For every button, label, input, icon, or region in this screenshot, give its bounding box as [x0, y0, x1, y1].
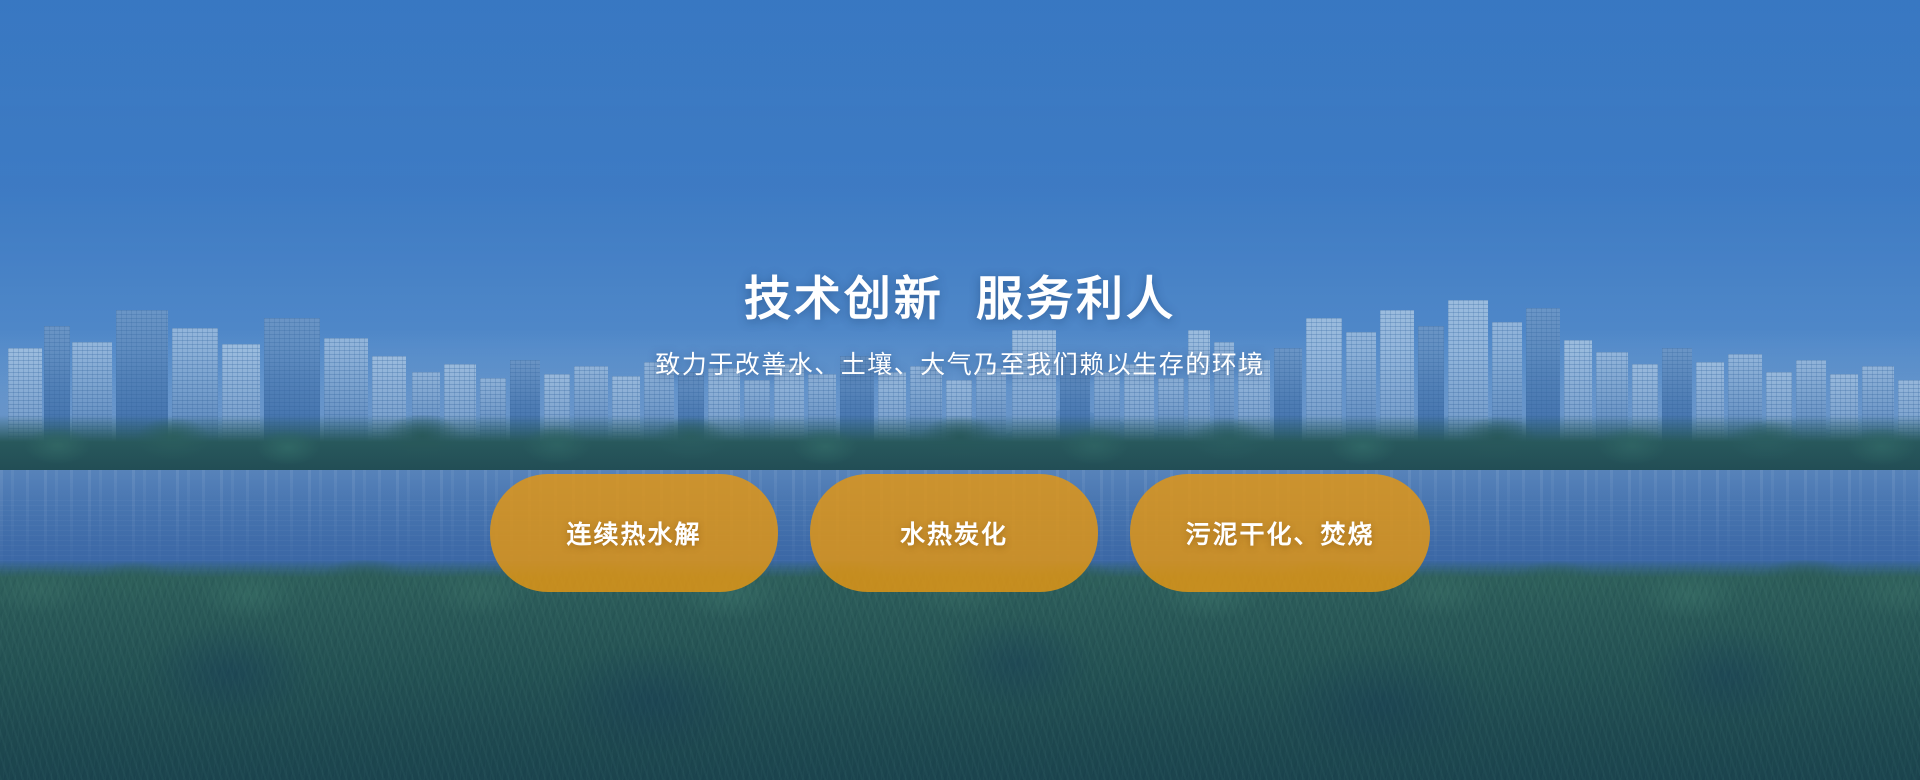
page-subtitle: 致力于改善水、土壤、大气乃至我们赖以生存的环境	[0, 345, 1920, 381]
hero-banner: 技术创新 服务利人 致力于改善水、土壤、大气乃至我们赖以生存的环境 连续热水解 …	[0, 0, 1920, 780]
hero-content: 技术创新 服务利人 致力于改善水、土壤、大气乃至我们赖以生存的环境 连续热水解 …	[0, 0, 1920, 780]
service-button-hydrothermal-carbonization[interactable]: 水热炭化	[810, 474, 1098, 592]
page-title: 技术创新 服务利人	[0, 260, 1920, 329]
service-button-continuous-hydrolysis[interactable]: 连续热水解	[490, 474, 778, 592]
service-button-sludge-drying-incineration[interactable]: 污泥干化、焚烧	[1130, 474, 1430, 592]
service-button-row: 连续热水解 水热炭化 污泥干化、焚烧	[0, 474, 1920, 592]
